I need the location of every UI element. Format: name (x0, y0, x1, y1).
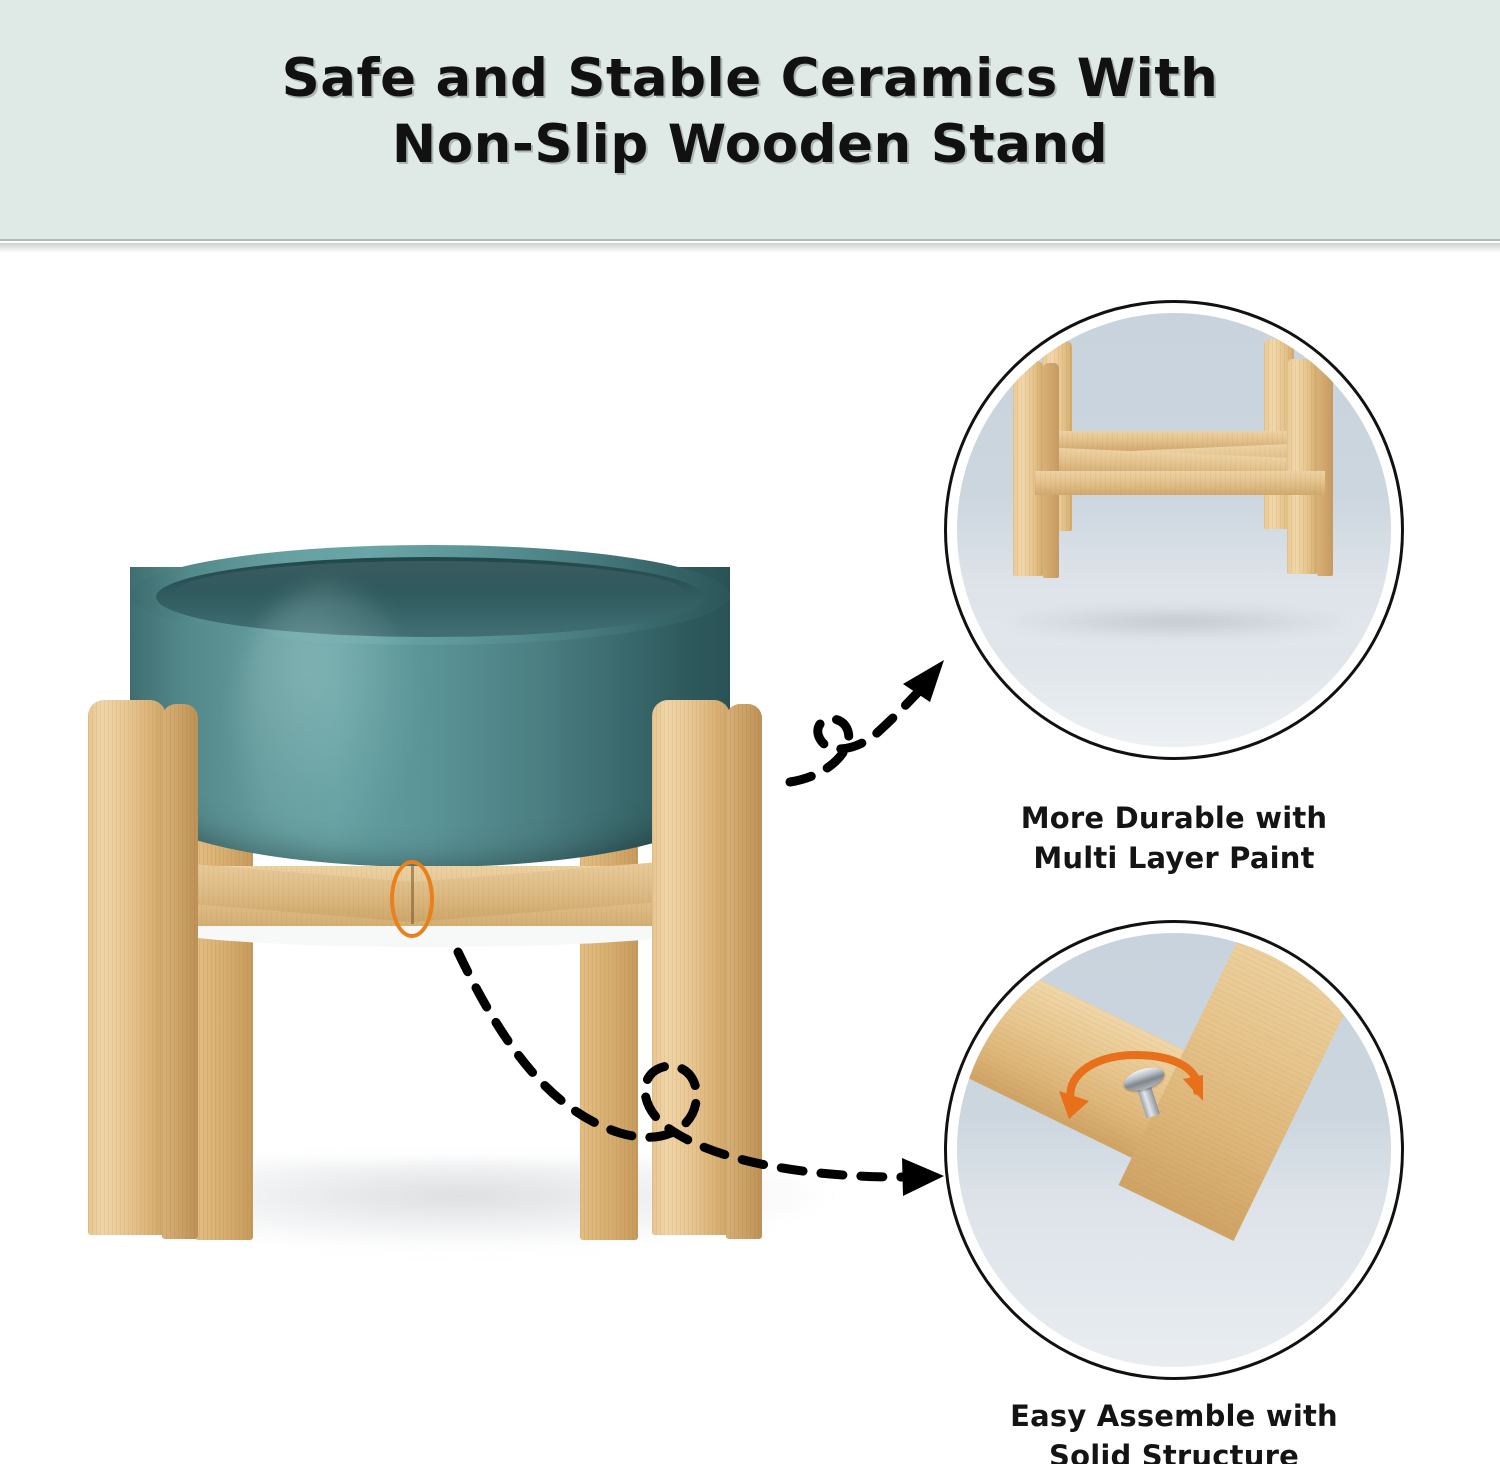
mini-floor-shadow (997, 605, 1357, 639)
product-hero-image (60, 470, 860, 1270)
callout-top-caption-line-1: More Durable with (944, 798, 1404, 838)
mini-rail-front (1035, 471, 1325, 495)
stand-leg-right-side (726, 704, 762, 1239)
callout-inset-top (944, 300, 1404, 760)
callout-inset-bottom-content (957, 933, 1391, 1367)
callout-inset-top-content (957, 313, 1391, 747)
callout-bottom-caption-line-2: Solid Structure (944, 1436, 1404, 1464)
joint-highlight-ellipse (390, 860, 434, 938)
title-line-2: Non-Slip Wooden Stand (0, 112, 1500, 178)
title-line-1: Safe and Stable Ceramics With (0, 46, 1500, 112)
bowl-interior-highlight (176, 561, 684, 623)
header-shadow (0, 243, 1500, 253)
product-infographic: Safe and Stable Ceramics With Non-Slip W… (0, 0, 1500, 1464)
screw-joint-closeup (957, 933, 1391, 1367)
ceramic-bowl (130, 545, 730, 875)
callout-top-caption: More Durable with Multi Layer Paint (944, 798, 1404, 878)
page-title: Safe and Stable Ceramics With Non-Slip W… (0, 46, 1500, 178)
stand-leg-left (88, 700, 166, 1235)
rotation-arrowhead-right (1183, 1075, 1203, 1101)
lower-arrowhead (902, 1158, 944, 1196)
mini-bamboo-stand (957, 313, 1391, 747)
callout-top-caption-line-2: Multi Layer Paint (944, 838, 1404, 878)
upper-arrowhead (903, 660, 944, 702)
bowl-sheen (235, 585, 420, 855)
rotation-indicator (1045, 1029, 1235, 1179)
mini-leg-front-right-side (1317, 361, 1333, 576)
stand-leg-right (652, 700, 730, 1235)
callout-bottom-caption: Easy Assemble with Solid Structure (944, 1396, 1404, 1464)
callout-bottom-caption-line-1: Easy Assemble with (944, 1396, 1404, 1436)
mini-leg-front-right (1287, 359, 1317, 574)
mini-leg-front-left (1013, 361, 1043, 576)
callout-inset-bottom (944, 920, 1404, 1380)
stand-leg-left-side (162, 704, 198, 1239)
